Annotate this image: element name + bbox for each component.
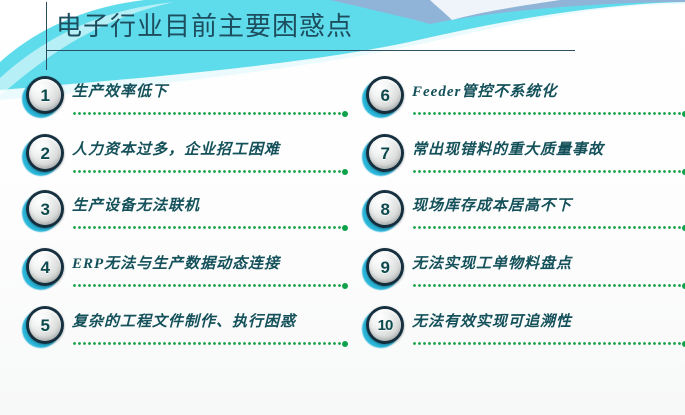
badge-face: 1 (29, 79, 61, 111)
number-badge: 4 (26, 248, 64, 286)
list-item[interactable]: 10 无法有效实现可追溯性 (360, 302, 685, 360)
right-column: 6 Feeder管控不系统化 7 常出现错料的重大质量事故 (360, 72, 685, 392)
rule-end-dot (342, 111, 348, 117)
dotted-rule (412, 226, 684, 229)
list-item[interactable]: 4 ERP无法与生产数据动态连接 (20, 244, 350, 302)
rule-end-dot (342, 225, 348, 231)
rule-end-dot (342, 169, 348, 175)
list-item-label: 现场库存成本居高不下 (412, 194, 572, 215)
page-title: 电子行业目前主要困惑点 (56, 7, 353, 45)
title-horizontal-rule (46, 50, 575, 51)
badge-face: 9 (369, 251, 401, 283)
dotted-rule (412, 170, 684, 173)
number-badge: 8 (366, 190, 404, 228)
list-item[interactable]: 1 生产效率低下 (20, 72, 350, 130)
dotted-rule (72, 112, 344, 115)
list-item[interactable]: 7 常出现错料的重大质量事故 (360, 130, 685, 188)
list-item-label: 生产设备无法联机 (72, 194, 200, 215)
list-item[interactable]: 2 人力资本过多，企业招工困难 (20, 130, 350, 188)
list-item-label: 常出现错料的重大质量事故 (412, 138, 604, 159)
badge-number: 3 (41, 201, 50, 218)
left-column: 1 生产效率低下 2 人力资本过多，企业招工困难 (20, 72, 350, 392)
badge-number: 8 (381, 201, 390, 218)
dotted-rule (72, 284, 344, 287)
dotted-rule (72, 342, 344, 345)
title-vertical-rule (46, 2, 47, 70)
dotted-rule (72, 170, 344, 173)
badge-face: 10 (369, 309, 401, 341)
badge-number: 6 (381, 87, 390, 104)
list-item[interactable]: 9 无法实现工单物料盘点 (360, 244, 685, 302)
list-item[interactable]: 6 Feeder管控不系统化 (360, 72, 685, 130)
list-item-label: 无法有效实现可追溯性 (412, 310, 572, 331)
list-item[interactable]: 8 现场库存成本居高不下 (360, 186, 685, 244)
badge-face: 6 (369, 79, 401, 111)
badge-number: 4 (41, 259, 50, 276)
list-item[interactable]: 3 生产设备无法联机 (20, 186, 350, 244)
badge-face: 2 (29, 137, 61, 169)
badge-face: 7 (369, 137, 401, 169)
badge-face: 5 (29, 309, 61, 341)
dotted-rule (412, 284, 684, 287)
list-item-label: Feeder管控不系统化 (412, 80, 557, 101)
number-badge: 6 (366, 76, 404, 114)
dotted-rule (412, 342, 684, 345)
list-item-label: 无法实现工单物料盘点 (412, 252, 572, 273)
list-item[interactable]: 5 复杂的工程文件制作、执行困惑 (20, 302, 350, 360)
badge-number: 9 (381, 259, 390, 276)
list-item-label: 人力资本过多，企业招工困难 (72, 138, 280, 159)
number-badge: 1 (26, 76, 64, 114)
items-area: 1 生产效率低下 2 人力资本过多，企业招工困难 (0, 72, 685, 392)
dotted-rule (72, 226, 344, 229)
list-item-label: ERP无法与生产数据动态连接 (72, 252, 280, 273)
badge-number: 2 (41, 145, 50, 162)
number-badge: 7 (366, 134, 404, 172)
rule-end-dot (342, 341, 348, 347)
badge-number: 5 (41, 317, 50, 334)
dotted-rule (412, 112, 684, 115)
list-item-label: 复杂的工程文件制作、执行困惑 (72, 310, 296, 331)
badge-number: 7 (381, 145, 390, 162)
badge-face: 4 (29, 251, 61, 283)
badge-face: 3 (29, 193, 61, 225)
number-badge: 2 (26, 134, 64, 172)
number-badge: 3 (26, 190, 64, 228)
number-badge: 10 (366, 306, 404, 344)
list-item-label: 生产效率低下 (72, 80, 168, 101)
number-badge: 5 (26, 306, 64, 344)
badge-number: 1 (41, 87, 50, 104)
badge-number: 10 (378, 318, 393, 333)
title-block: 电子行业目前主要困惑点 (0, 0, 685, 72)
rule-end-dot (342, 283, 348, 289)
number-badge: 9 (366, 248, 404, 286)
slide-canvas: 电子行业目前主要困惑点 1 生产效率低下 (0, 0, 685, 415)
badge-face: 8 (369, 193, 401, 225)
